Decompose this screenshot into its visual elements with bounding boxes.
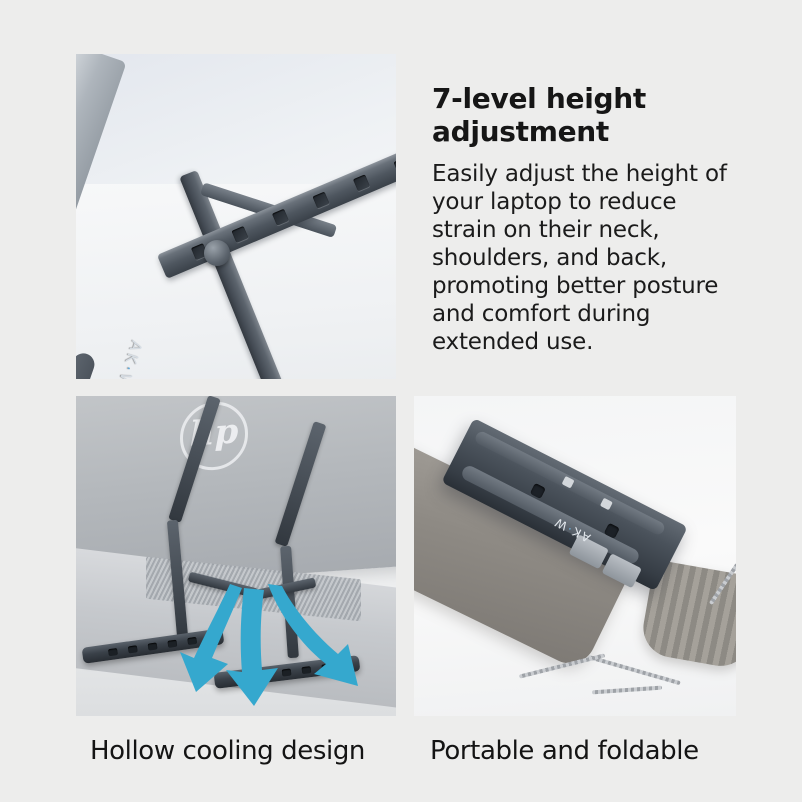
vent-hole: [312, 192, 329, 209]
vent-hole: [272, 209, 289, 226]
caption-portable-foldable: Portable and foldable: [430, 736, 699, 766]
vent-hole: [231, 226, 248, 243]
hinge-pivot-pin: [204, 240, 230, 266]
airflow-arrow-right: [252, 582, 382, 708]
vent-hole: [393, 157, 396, 174]
drawstring-cord: [587, 655, 680, 685]
panel-portable: AK·W: [414, 396, 736, 716]
caption-hollow-cooling: Hollow cooling design: [90, 736, 365, 766]
feature-text-block: 7-level height adjustment Easily adjust …: [432, 82, 742, 356]
vent-hole: [353, 174, 370, 191]
drawstring-cord: [592, 686, 662, 695]
feature-heading: 7-level height adjustment: [432, 82, 742, 148]
infographic-stage: AK·W 7-level height adjustment Easily ad…: [0, 0, 802, 802]
panel-cooling: hp: [76, 396, 396, 716]
feature-body-text: Easily adjust the height of your laptop …: [432, 160, 742, 356]
panel-stand-closeup: AK·W: [76, 54, 396, 379]
